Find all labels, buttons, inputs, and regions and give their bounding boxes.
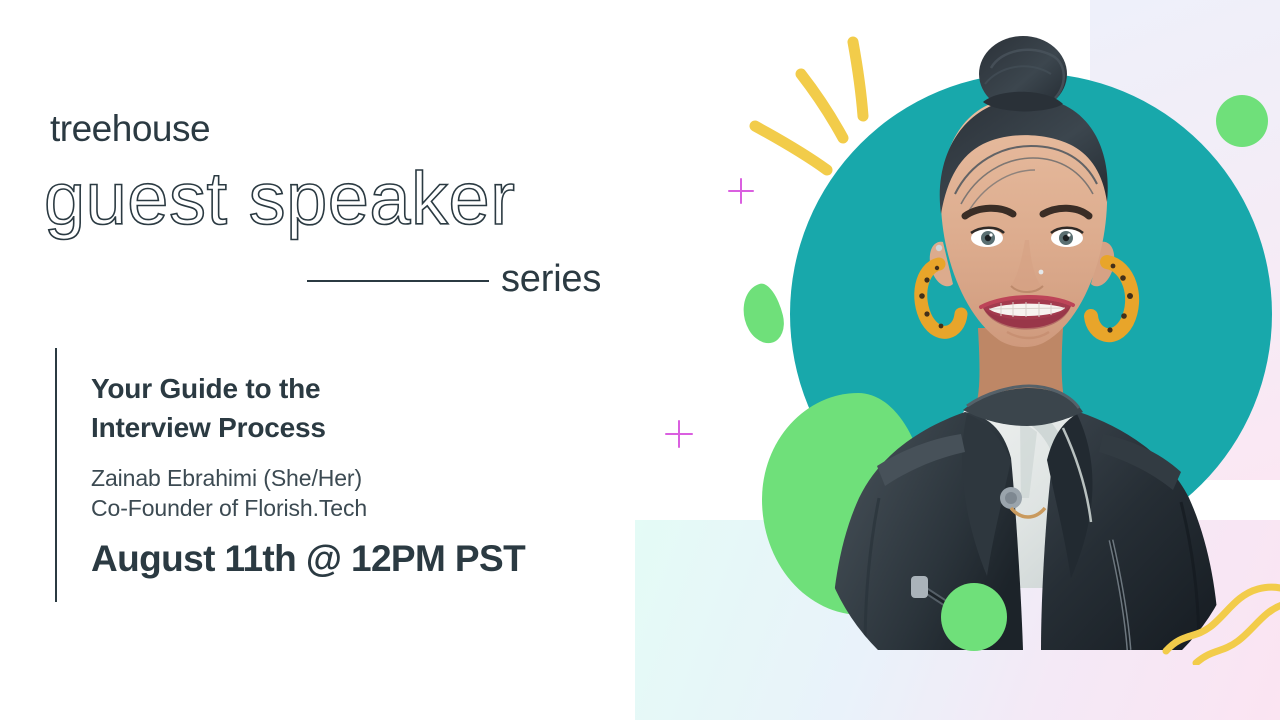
series-row: series <box>305 255 625 305</box>
promo-slide: treehouse guest speaker series Your Guid… <box>0 0 1280 720</box>
yellow-squiggle-icon <box>1160 575 1280 665</box>
magenta-plus-icon-upper <box>728 178 754 204</box>
session-datetime: August 11th @ 12PM PST <box>91 535 525 583</box>
magenta-plus-icon-lower <box>665 420 693 448</box>
green-blob-small-shape <box>737 280 788 347</box>
speaker-name: Zainab Ebrahimi (She/Her) <box>91 462 362 495</box>
series-label: series <box>501 255 601 304</box>
brand-name: treehouse <box>50 110 210 147</box>
speaker-role: Co-Founder of Florish.Tech <box>91 492 367 525</box>
session-title-line-2: Interview Process <box>91 409 571 448</box>
green-circle-medium-shape <box>941 583 1007 651</box>
series-divider-rule <box>307 280 489 282</box>
speaker-portrait <box>815 28 1245 650</box>
left-accent-rule <box>55 348 57 602</box>
session-title: Your Guide to the Interview Process <box>91 370 571 447</box>
headline-outline-text: guest speaker <box>44 160 515 238</box>
session-title-line-1: Your Guide to the <box>91 370 571 409</box>
